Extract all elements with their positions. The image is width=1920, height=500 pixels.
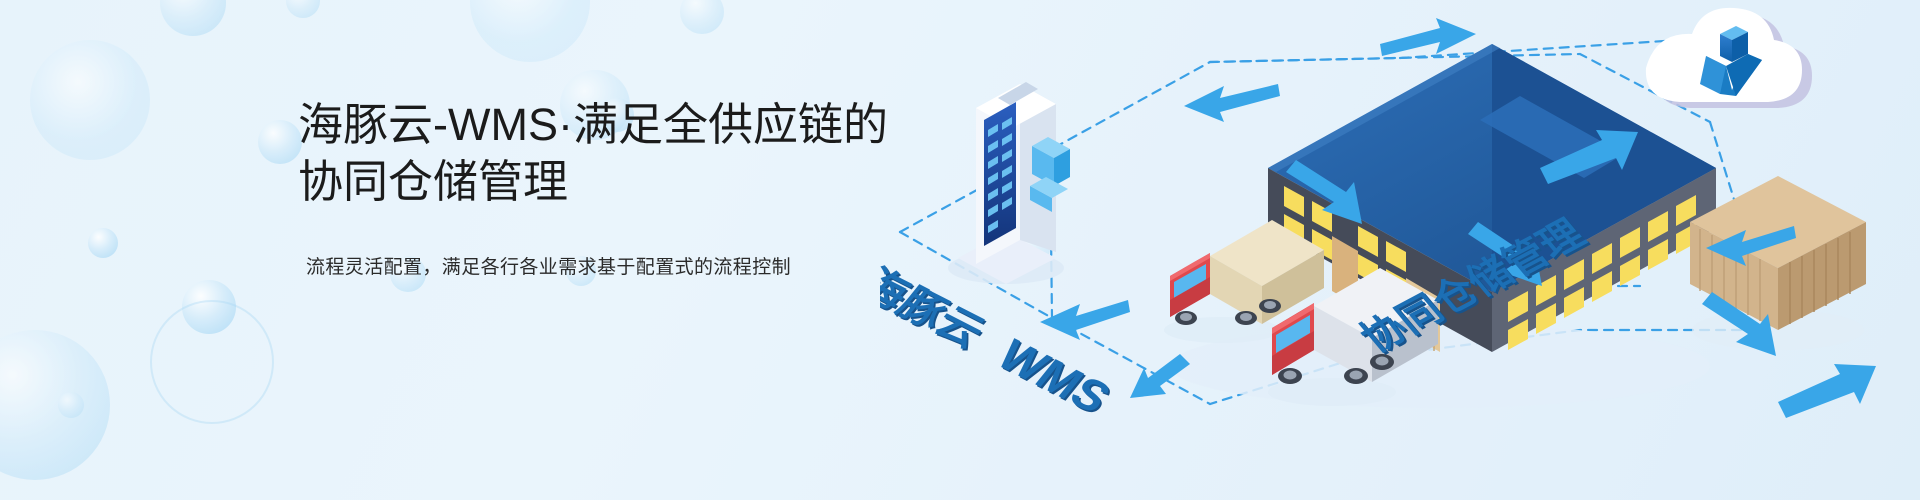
bokeh-ring (150, 300, 274, 424)
warehouse-illustration: 海豚云 海豚云 WMS WMS 协同仓储管理 协同仓储管理 (880, 0, 1920, 500)
bokeh-circle (680, 0, 724, 34)
promo-banner: 海豚云-WMS·满足全供应链的 协同仓储管理 流程灵活配置，满足各行各业需求基于… (0, 0, 1920, 500)
bokeh-circle (258, 120, 302, 164)
container-icon (1690, 176, 1866, 350)
bokeh-circle (160, 0, 226, 36)
iso-label-dolphin-cloud-wms: 海豚云 海豚云 WMS WMS (880, 261, 1122, 424)
bokeh-circle (30, 40, 150, 160)
bokeh-circle (0, 330, 110, 480)
page-title: 海豚云-WMS·满足全供应链的 协同仓储管理 (298, 96, 898, 210)
bokeh-circle (88, 228, 118, 258)
page-subtitle: 流程灵活配置，满足各行各业需求基于配置式的流程控制 (298, 210, 898, 282)
banner-text-block: 海豚云-WMS·满足全供应链的 协同仓储管理 流程灵活配置，满足各行各业需求基于… (298, 96, 898, 282)
bokeh-circle (286, 0, 320, 18)
bokeh-circle (470, 0, 590, 62)
bokeh-circle (182, 280, 236, 334)
bokeh-circle (58, 392, 84, 418)
cloud-icon (1646, 8, 1812, 108)
